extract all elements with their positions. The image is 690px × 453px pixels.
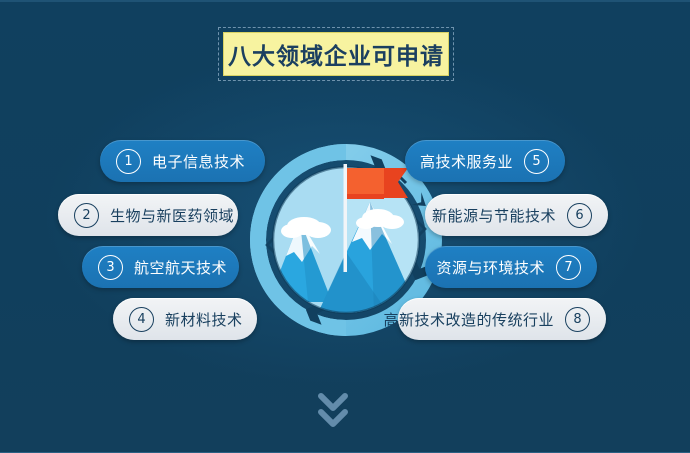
top-edge-line	[0, 0, 690, 2]
item-number-1: 1	[116, 149, 141, 174]
item-number-7: 7	[556, 255, 581, 280]
item-label-7: 资源与环境技术	[436, 257, 545, 278]
item-pill-8[interactable]: 高新技术改造的传统行业 8	[398, 298, 606, 340]
item-number-8: 8	[565, 307, 590, 332]
item-pill-2[interactable]: 2 生物与新医药领域	[58, 194, 238, 236]
item-label-3: 航空航天技术	[134, 257, 227, 278]
item-number-5: 5	[524, 149, 549, 174]
item-pill-5[interactable]: 高技术服务业 5	[405, 140, 565, 182]
page-title: 八大领域企业可申请	[228, 37, 444, 71]
item-number-3: 3	[98, 255, 123, 280]
item-pill-1[interactable]: 1 电子信息技术	[100, 140, 265, 182]
infographic-canvas: 八大领域企业可申请	[0, 0, 690, 453]
item-number-6: 6	[567, 203, 592, 228]
item-label-1: 电子信息技术	[152, 151, 245, 172]
item-label-4: 新材料技术	[165, 309, 243, 330]
item-label-6: 新能源与节能技术	[432, 205, 556, 226]
item-pill-4[interactable]: 4 新材料技术	[113, 298, 257, 340]
item-label-8: 高新技术改造的传统行业	[383, 309, 554, 330]
item-label-2: 生物与新医药领域	[110, 205, 234, 226]
item-pill-7[interactable]: 资源与环境技术 7	[425, 246, 597, 288]
item-number-2: 2	[74, 203, 99, 228]
item-number-4: 4	[129, 307, 154, 332]
title-box: 八大领域企业可申请	[223, 32, 449, 76]
item-label-5: 高技术服务业	[420, 151, 513, 172]
title-dashed-frame: 八大领域企业可申请	[218, 27, 454, 81]
item-pill-3[interactable]: 3 航空航天技术	[82, 246, 239, 288]
item-pill-6[interactable]: 新能源与节能技术 6	[425, 194, 608, 236]
double-chevron-down-icon[interactable]	[313, 390, 353, 434]
